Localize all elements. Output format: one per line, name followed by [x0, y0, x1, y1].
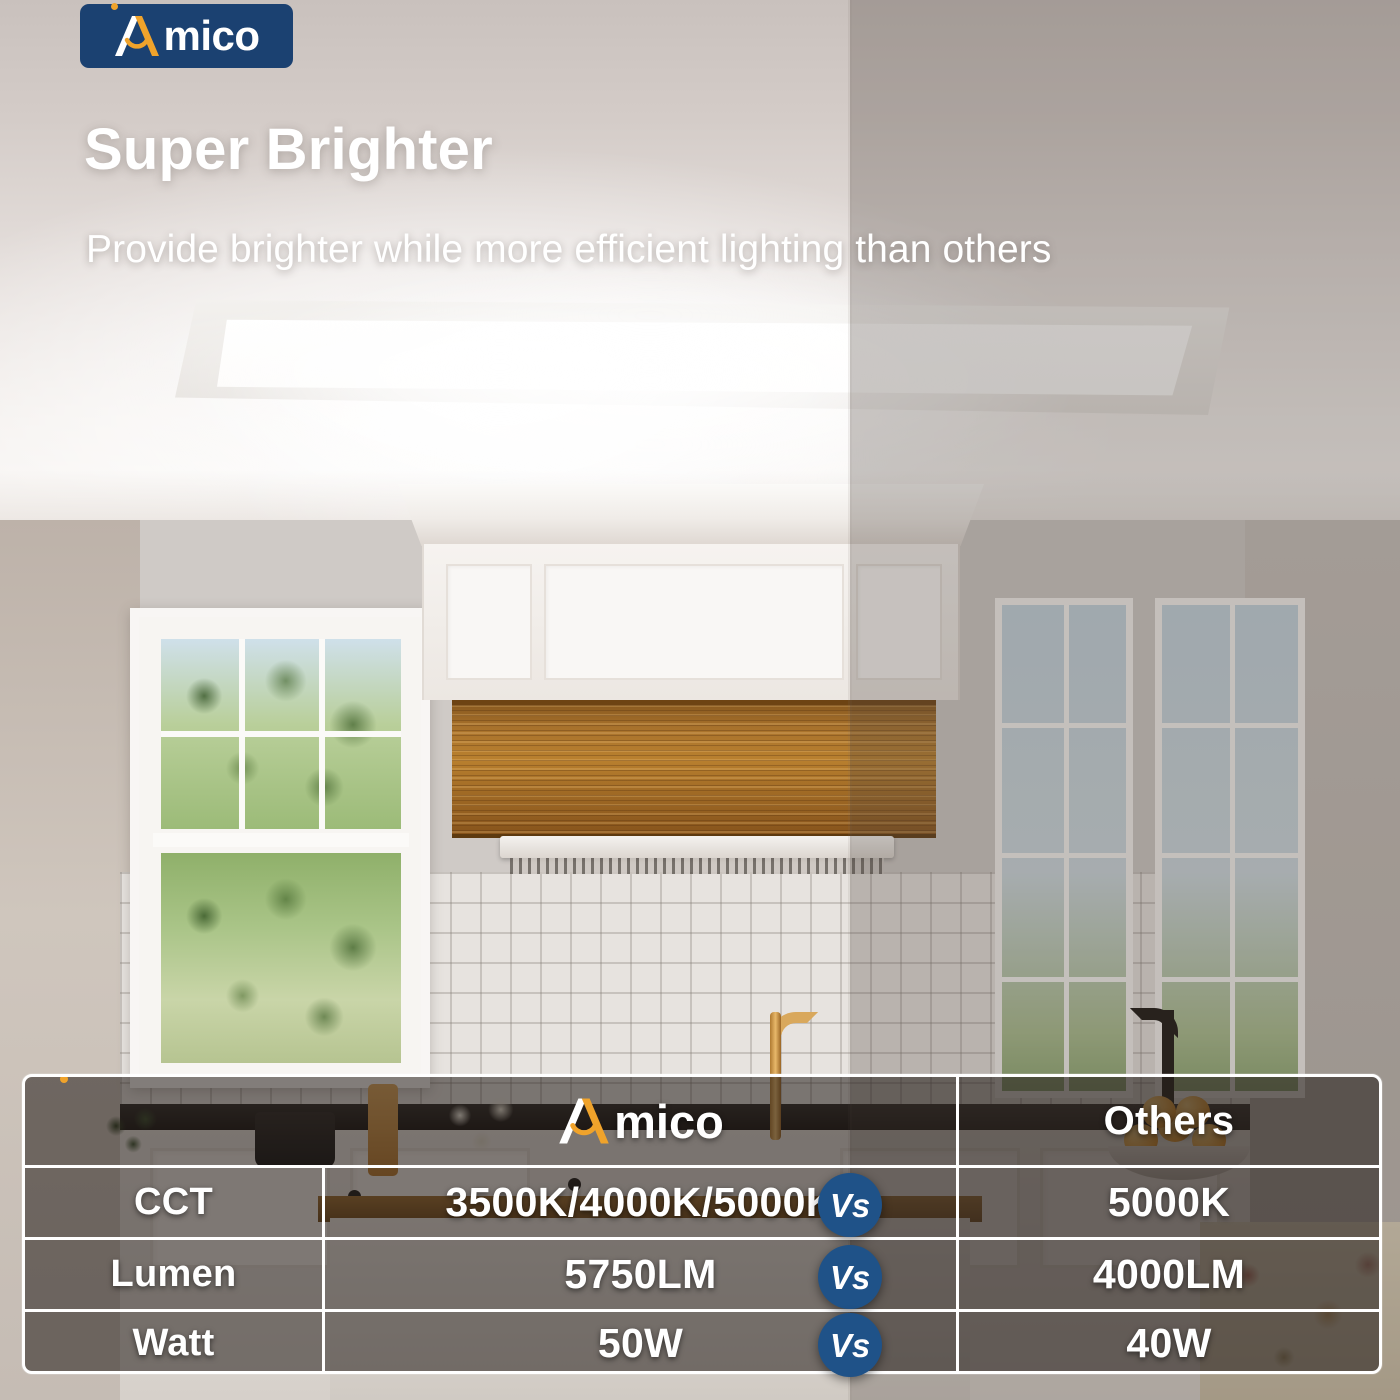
row-others-cell: 4000LM	[959, 1240, 1379, 1309]
row-others-cell: 5000K	[959, 1168, 1379, 1237]
vs-badge-label: Vs	[830, 1189, 870, 1222]
header-others-cell: Others	[959, 1077, 1379, 1165]
amico-a-icon	[557, 1096, 611, 1146]
page-subheadline: Provide brighter while more efficient li…	[86, 228, 1051, 272]
row-others-value: 40W	[1126, 1320, 1211, 1367]
row-metric-cell: CCT	[25, 1168, 325, 1237]
row-metric-label: Watt	[132, 1322, 214, 1365]
left-window-lower-foliage	[161, 853, 401, 1063]
row-metric-label: CCT	[134, 1181, 213, 1224]
product-marketing-image: mico Super Brighter Provide brighter whi…	[0, 0, 1400, 1400]
right-window-right-sash	[1155, 598, 1305, 1098]
header-metric-cell	[25, 1077, 325, 1165]
amico-logo-badge: mico	[80, 4, 293, 68]
cabinet-panel	[856, 564, 942, 680]
window-sash-rail	[153, 833, 409, 847]
table-row: CCT 3500K/4000K/5000K 5000K	[25, 1165, 1379, 1237]
table-header-row: mico Others	[25, 1077, 1379, 1165]
hood-wood-panel	[452, 700, 936, 838]
header-amico-cell: mico	[325, 1077, 959, 1165]
row-amico-value: 5750LM	[564, 1251, 716, 1298]
amico-a-icon	[113, 14, 161, 58]
row-amico-value: 3500K/4000K/5000K	[445, 1179, 835, 1226]
mullion-vertical	[1064, 605, 1069, 1091]
row-amico-value: 50W	[598, 1320, 683, 1367]
row-metric-cell: Lumen	[25, 1240, 325, 1309]
hood-crown-molding	[398, 484, 984, 546]
left-window-lower-glass	[161, 853, 401, 1063]
row-others-cell: 40W	[959, 1312, 1379, 1374]
left-window	[130, 608, 430, 1088]
page-headline: Super Brighter	[84, 116, 493, 183]
mullion-horizontal	[1162, 853, 1298, 858]
header-others-label: Others	[1104, 1099, 1235, 1144]
amico-logo-i-dot	[111, 3, 118, 10]
left-window-upper-glass	[161, 639, 401, 829]
cabinet-panel	[544, 564, 844, 680]
mullion-horizontal	[161, 731, 401, 737]
amico-logo-wordmark: mico	[163, 15, 259, 57]
mullion-horizontal	[1002, 853, 1126, 858]
cabinet-panel	[446, 564, 532, 680]
hood-grill	[510, 858, 884, 874]
vs-badge: Vs	[818, 1173, 882, 1237]
comparison-table: mico Others CCT 3500K/4000K/5000K 5000K …	[22, 1074, 1382, 1374]
table-amico-i-dot	[60, 1075, 68, 1083]
row-metric-cell: Watt	[25, 1312, 325, 1374]
right-window-left-sash	[995, 598, 1133, 1098]
table-row: Watt 50W 40W	[25, 1309, 1379, 1374]
row-others-value: 5000K	[1108, 1179, 1230, 1226]
mullion-vertical	[1230, 605, 1235, 1091]
row-others-value: 4000LM	[1093, 1251, 1245, 1298]
mullion-horizontal	[1162, 977, 1298, 982]
row-metric-label: Lumen	[110, 1253, 236, 1296]
vs-badge-label: Vs	[830, 1329, 870, 1362]
vs-badge-label: Vs	[830, 1261, 870, 1294]
mullion-horizontal	[1002, 723, 1126, 728]
mullion-horizontal	[1162, 723, 1298, 728]
table-amico-wordmark: mico	[614, 1098, 724, 1145]
table-amico-logo: mico	[557, 1096, 724, 1146]
mullion-horizontal	[1002, 977, 1126, 982]
hood-upper-cabinet	[422, 544, 960, 700]
table-row: Lumen 5750LM 4000LM	[25, 1237, 1379, 1309]
hood-vent-bar	[500, 836, 894, 858]
vs-badge: Vs	[818, 1245, 882, 1309]
vs-badge: Vs	[818, 1313, 882, 1377]
